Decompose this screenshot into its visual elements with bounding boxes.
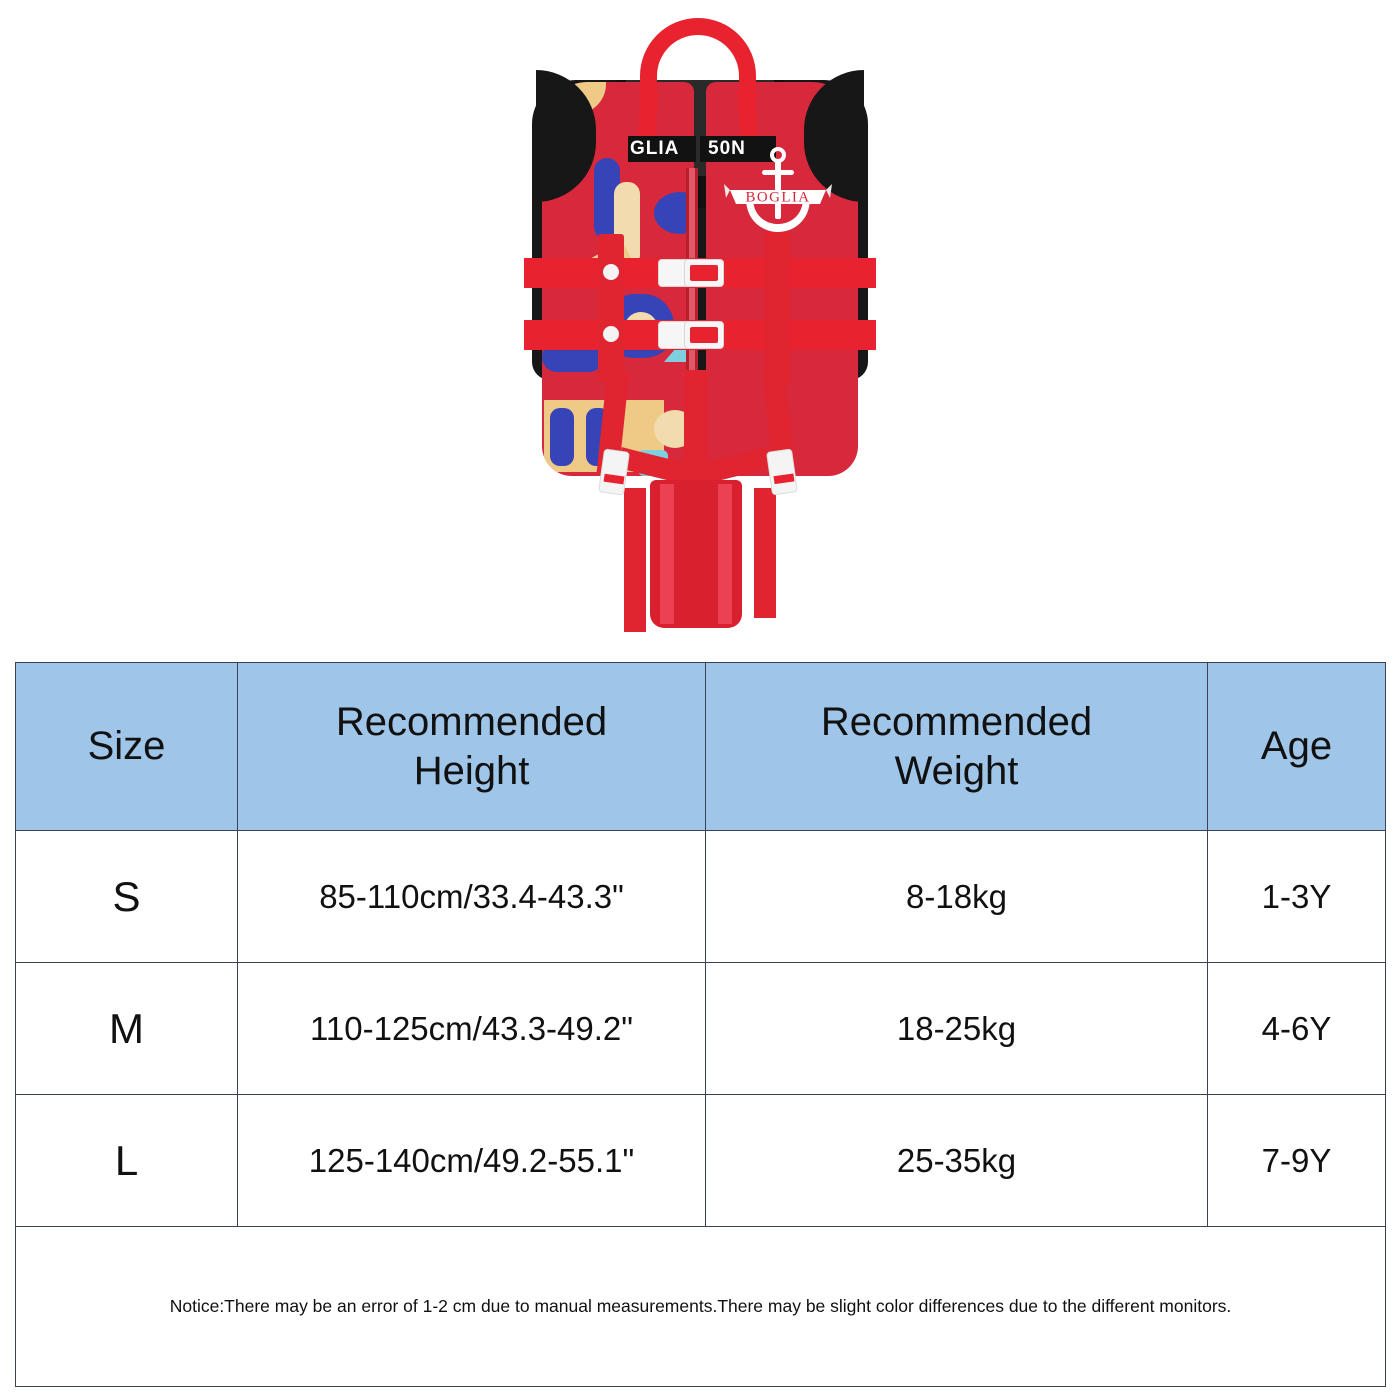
strap-keeper-left bbox=[598, 234, 624, 382]
table-row: L 125-140cm/49.2-55.1" 25-35kg 7-9Y bbox=[16, 1095, 1386, 1227]
webbing-tail-right bbox=[754, 488, 776, 618]
cell-weight: 8-18kg bbox=[706, 831, 1208, 963]
column-header-weight-line2: Weight bbox=[706, 747, 1207, 796]
cell-age: 1-3Y bbox=[1208, 831, 1386, 963]
cell-height: 110-125cm/43.3-49.2" bbox=[238, 963, 706, 1095]
cell-weight: 18-25kg bbox=[706, 963, 1208, 1095]
anchor-logo-icon: BOGLIA bbox=[724, 146, 832, 238]
cell-size: M bbox=[16, 963, 238, 1095]
column-header-weight-line1: Recommended bbox=[706, 698, 1207, 747]
column-header-height-line1: Recommended bbox=[238, 698, 705, 747]
cell-weight: 25-35kg bbox=[706, 1095, 1208, 1227]
size-chart-table: Size Recommended Height Recommended Weig… bbox=[15, 662, 1386, 1387]
size-chart-body: S 85-110cm/33.4-43.3" 8-18kg 1-3Y M 110-… bbox=[16, 831, 1386, 1387]
webbing-tail-left bbox=[624, 488, 646, 632]
folded-webbing-bundle bbox=[650, 480, 742, 628]
side-release-buckle-upper bbox=[658, 259, 724, 287]
table-header-row: Size Recommended Height Recommended Weig… bbox=[16, 663, 1386, 831]
column-header-height-line2: Height bbox=[238, 747, 705, 796]
buckle-webbing-slot bbox=[690, 327, 718, 343]
column-header-weight: Recommended Weight bbox=[706, 663, 1208, 831]
cell-height: 85-110cm/33.4-43.3" bbox=[238, 831, 706, 963]
size-chart-header: Size Recommended Height Recommended Weig… bbox=[16, 663, 1386, 831]
cell-size: L bbox=[16, 1095, 238, 1227]
cell-age: 4-6Y bbox=[1208, 963, 1386, 1095]
table-row: M 110-125cm/43.3-49.2" 18-25kg 4-6Y bbox=[16, 963, 1386, 1095]
column-header-height: Recommended Height bbox=[238, 663, 706, 831]
crotch-strap-vertical bbox=[684, 370, 708, 476]
table-row: S 85-110cm/33.4-43.3" 8-18kg 1-3Y bbox=[16, 831, 1386, 963]
notice-row: Notice:There may be an error of 1-2 cm d… bbox=[16, 1227, 1386, 1387]
pattern-shape-blue-m bbox=[550, 408, 574, 466]
cell-age: 7-9Y bbox=[1208, 1095, 1386, 1227]
life-jacket-illustration: GLIA 50N BOGLIA bbox=[480, 18, 920, 658]
column-header-age: Age bbox=[1208, 663, 1386, 831]
buckle-webbing-slot bbox=[690, 265, 718, 281]
cell-size: S bbox=[16, 831, 238, 963]
snap-button-upper bbox=[603, 264, 619, 280]
cell-height: 125-140cm/49.2-55.1" bbox=[238, 1095, 706, 1227]
strap-keeper-right bbox=[764, 232, 790, 384]
snap-button-lower bbox=[603, 326, 619, 342]
brand-tape-label: GLIA bbox=[628, 136, 696, 162]
side-release-buckle-lower bbox=[658, 321, 724, 349]
svg-text:BOGLIA: BOGLIA bbox=[745, 190, 810, 206]
measurement-notice: Notice:There may be an error of 1-2 cm d… bbox=[16, 1227, 1386, 1387]
product-photo: GLIA 50N BOGLIA bbox=[0, 0, 1400, 655]
column-header-size: Size bbox=[16, 663, 238, 831]
